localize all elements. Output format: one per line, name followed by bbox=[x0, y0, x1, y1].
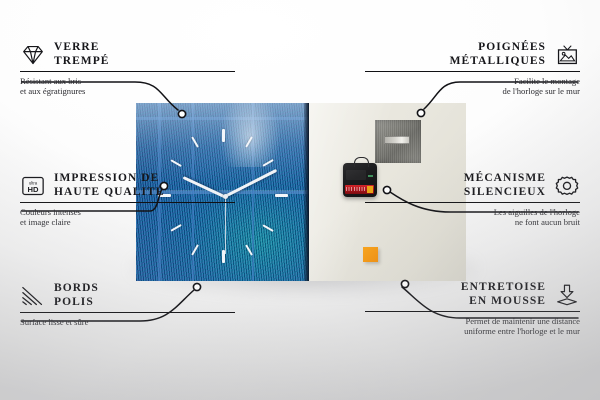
clock-tick bbox=[275, 194, 288, 197]
callout-verre-trempe[interactable]: VERRE TREMPÉ Résistant aux bris et aux é… bbox=[20, 41, 235, 97]
foam-spacer bbox=[363, 247, 378, 262]
callout-entretoise-en-mousse[interactable]: ENTRETOISE EN MOUSSE Permet de maintenir… bbox=[365, 281, 580, 337]
callout-title: MÉCANISME SILENCIEUX bbox=[464, 172, 546, 199]
clock-tick bbox=[222, 129, 225, 142]
spacer-arrow-icon bbox=[554, 284, 580, 306]
ultra-hd-badge-icon: ultra HD bbox=[20, 175, 46, 197]
callout-desc: Facilite le montage de l'horloge sur le … bbox=[365, 76, 580, 97]
callout-title: POIGNÉES MÉTALLIQUES bbox=[450, 41, 546, 68]
metal-hanger-plate bbox=[375, 120, 421, 163]
picture-frame-hanger-icon bbox=[554, 44, 580, 66]
callout-desc: Couleurs intenses et image claire bbox=[20, 207, 235, 228]
gear-icon bbox=[554, 175, 580, 197]
callout-desc: Surface lisse et sûre bbox=[20, 317, 235, 327]
callout-title: IMPRESSION DE HAUTE QUALITÉ bbox=[54, 172, 164, 199]
callout-rule bbox=[365, 202, 580, 203]
callout-impression-haute-qualite[interactable]: ultra HD IMPRESSION DE HAUTE QUALITÉ Cou… bbox=[20, 172, 235, 228]
callout-bords-polis[interactable]: BORDS POLIS Surface lisse et sûre bbox=[20, 282, 235, 327]
callout-desc: Résistant aux bris et aux égratignures bbox=[20, 76, 235, 97]
callout-title: ENTRETOISE EN MOUSSE bbox=[461, 281, 546, 308]
callout-rule bbox=[365, 71, 580, 72]
callout-rule bbox=[20, 312, 235, 313]
callout-rule bbox=[20, 202, 235, 203]
callout-poignees-metalliques[interactable]: POIGNÉES MÉTALLIQUES Facilite le montage… bbox=[365, 41, 580, 97]
callout-rule bbox=[20, 71, 235, 72]
svg-text:HD: HD bbox=[28, 184, 39, 193]
hanger-loop-icon bbox=[354, 157, 369, 167]
callout-title: VERRE TREMPÉ bbox=[54, 41, 110, 68]
polished-edge-icon bbox=[20, 285, 46, 307]
callout-desc: Permet de maintenir une distance uniform… bbox=[365, 316, 580, 337]
callout-title: BORDS POLIS bbox=[54, 282, 99, 309]
glass-glare bbox=[219, 103, 281, 167]
callout-desc: Les aiguilles de l'horloge ne font aucun… bbox=[365, 207, 580, 228]
diamond-icon bbox=[20, 44, 46, 66]
infographic-canvas: VERRE TREMPÉ Résistant aux bris et aux é… bbox=[0, 0, 600, 400]
callout-rule bbox=[365, 311, 580, 312]
callout-mecanisme-silencieux[interactable]: MÉCANISME SILENCIEUX Les aiguilles de l'… bbox=[365, 172, 580, 228]
